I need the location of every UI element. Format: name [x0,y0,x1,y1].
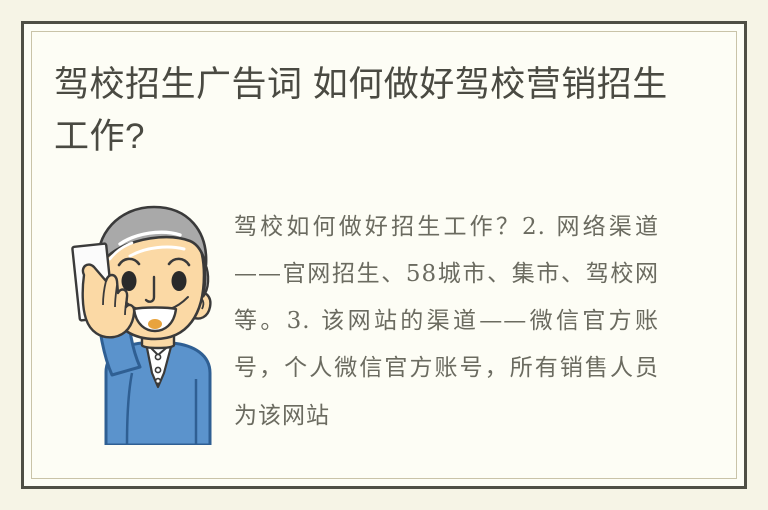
page-title: 驾校招生广告词 如何做好驾校营销招生工作? [54,59,694,163]
article-frame-outer: 驾校招生广告词 如何做好驾校营销招生工作? [21,21,747,489]
elderly-man-on-phone-illustration [54,197,229,445]
article-body-text: 驾校如何做好招生工作？2. 网络渠道——官网招生、58城市、集市、驾校网等。3.… [234,204,659,440]
page-root: 驾校招生广告词 如何做好驾校营销招生工作? [0,0,768,510]
